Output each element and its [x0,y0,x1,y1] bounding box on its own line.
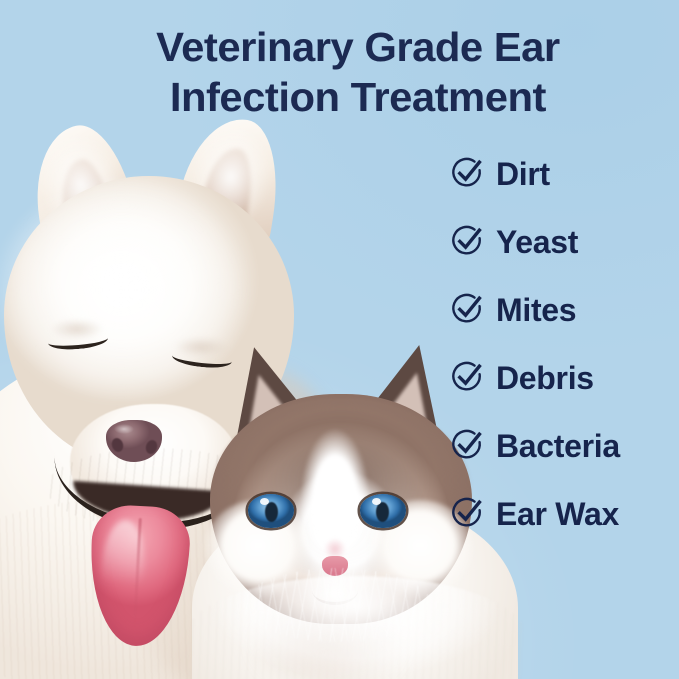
samoyed-dog [0,118,346,679]
circle-check-icon [450,224,484,258]
dog-nostril-right [144,439,159,456]
cat-cheek-left [202,500,314,608]
dog-eye-left [47,329,108,351]
list-item-label: Dirt [496,157,550,191]
cat-neck-ruff [186,576,526,679]
circle-check-icon [450,292,484,326]
list-item: Debris [450,344,678,412]
dog-tongue [86,504,191,649]
dog-ear-tuft-left [13,112,152,272]
circle-check-icon [450,496,484,530]
pet-photo [0,118,526,679]
dog-head [4,176,294,466]
cat-ear-right [364,337,456,434]
list-item-label: Bacteria [496,429,620,463]
dog-tongue-crease [133,518,142,626]
cat-eye-highlight-right [372,498,381,505]
cat-face-mask [208,398,474,604]
dog-nose [106,420,162,462]
dog-mouth [50,451,254,536]
cat-head [210,394,472,624]
list-item-label: Ear Wax [496,497,619,531]
cat-body-shading [256,600,436,679]
list-item: Mites [450,276,678,344]
circle-check-icon [450,156,484,190]
list-item-label: Debris [496,361,594,395]
cat-ear-inner-left [236,369,293,431]
dog-tongue-highlight [99,519,147,614]
dog-ear-inner-left [54,156,115,242]
dog-muzzle [70,404,238,534]
cat-nose [322,556,348,576]
cat-ear-inner-right [383,367,440,428]
dog-ear-tuft-right [163,106,296,262]
photo-bottom-blend [0,573,526,679]
dog-head-fluff [0,158,296,458]
cat-mouth [312,576,358,605]
page-title-line-1: Veterinary Grade Ear [108,22,608,72]
page-title: Veterinary Grade Ear Infection Treatment [108,22,608,122]
cat-pupil-left [265,502,278,522]
cat-muzzle [288,568,384,632]
list-item: Ear Wax [450,480,678,548]
dog-eye-shadow-left [40,318,114,346]
dog-nose-highlight [114,424,134,434]
cat-eye-right [360,494,406,528]
cat-blaze [300,420,370,552]
list-item: Yeast [450,208,678,276]
list-item-label: Mites [496,293,576,327]
dog-eye-shadow-right [164,336,238,364]
cat-nose-bridge [324,538,346,560]
dog-mouth-interior [71,481,223,525]
dog-ear-inner-right [199,145,257,229]
dog-eye-right [171,347,232,370]
feature-checklist: Dirt Yeast Mites Debris [450,140,678,548]
dog-ear-left [22,117,143,262]
list-item: Bacteria [450,412,678,480]
dog-nostril-left [110,437,125,454]
dog-ear-right [173,111,288,252]
cat-whiskers [242,568,432,642]
cat-eye-highlight-left [260,498,269,505]
promo-image: Veterinary Grade Ear Infection Treatment… [0,0,679,679]
circle-check-icon [450,428,484,462]
cat-eye-left [248,494,294,528]
list-item: Dirt [450,140,678,208]
dog-fur-texture [0,498,336,679]
dog-body-shading [136,368,346,679]
list-item-label: Yeast [496,225,578,259]
dog-body [0,348,341,679]
circle-check-icon [450,360,484,394]
cat-ear-left [217,338,311,436]
dog-whiskers [46,448,266,528]
page-title-line-2: Infection Treatment [108,72,608,122]
cat-pupil-right [376,502,389,522]
